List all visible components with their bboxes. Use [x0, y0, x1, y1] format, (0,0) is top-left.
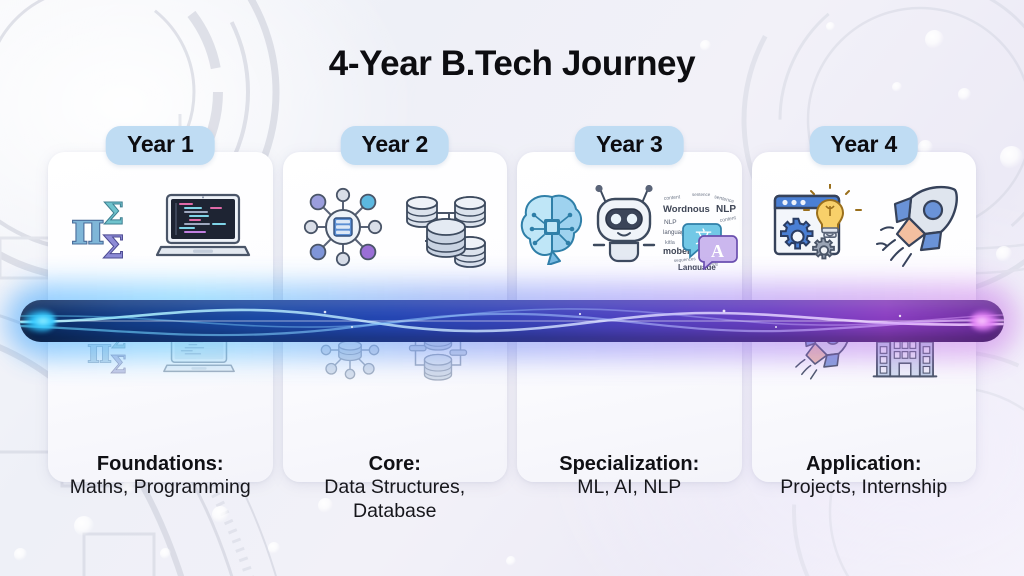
- year-3-caption-head: Specialization:: [517, 452, 742, 476]
- svg-text:sequences: sequences: [674, 256, 697, 263]
- page-title: 4-Year B.Tech Journey: [0, 44, 1024, 84]
- svg-text:NLP: NLP: [664, 219, 677, 226]
- rocket-icon: [875, 184, 959, 270]
- svg-text:content: content: [720, 215, 738, 224]
- year-1-caption-head: Foundations:: [48, 452, 273, 476]
- year-4-caption: Application: Projects, Internship: [752, 452, 977, 500]
- year-badge-4: Year 4: [809, 126, 918, 165]
- year-badge-2: Year 2: [340, 126, 449, 165]
- network-nodes-icon: [299, 183, 387, 271]
- year-1-caption: Foundations: Maths, Programming: [48, 452, 273, 500]
- svg-text:Σ: Σ: [102, 228, 125, 266]
- browser-gears-bulb-icon: [769, 184, 863, 270]
- svg-text:sentence: sentence: [692, 192, 711, 197]
- beam-right-cap-glow: [970, 310, 1000, 332]
- brain-chip-icon: [518, 189, 586, 265]
- year-2-caption-sub: Data Structures, Database: [283, 476, 508, 524]
- beam-left-cap-glow: [22, 309, 56, 333]
- database-cluster-icon: [399, 183, 491, 271]
- year-2-caption-head: Core:: [283, 452, 508, 476]
- laptop-code-icon: [155, 189, 251, 265]
- beam-wave-filaments-icon: [20, 300, 1004, 342]
- year-3-top-icons: content sentence sentence Wordnous NLP N…: [517, 152, 742, 302]
- year-1-top-icons: π Σ Σ: [48, 152, 273, 302]
- svg-text:content: content: [664, 194, 682, 202]
- svg-text:NLP: NLP: [716, 204, 736, 215]
- year-badge-1: Year 1: [106, 126, 215, 165]
- nlp-wordcloud-icon: content sentence sentence Wordnous NLP N…: [662, 184, 740, 270]
- year-2-top-icons: [283, 152, 508, 302]
- svg-text:A: A: [711, 241, 724, 261]
- svg-text:Σ: Σ: [103, 197, 124, 232]
- year-2-caption: Core: Data Structures, Database: [283, 452, 508, 524]
- svg-text:π: π: [71, 201, 105, 255]
- year-4-caption-sub: Projects, Internship: [752, 476, 977, 500]
- year-badge-3: Year 3: [575, 126, 684, 165]
- robot-head-icon: [590, 185, 658, 269]
- year-3-caption-sub: ML, AI, NLP: [517, 476, 742, 500]
- year-1-caption-sub: Maths, Programming: [48, 476, 273, 500]
- pi-sigma-math-icon: π Σ Σ: [69, 188, 143, 266]
- year-4-caption-head: Application:: [752, 452, 977, 476]
- svg-text:Wordnous: Wordnous: [663, 204, 710, 215]
- beam-core: [20, 300, 1004, 342]
- year-4-top-icons: [752, 152, 977, 302]
- energy-timeline-beam: [20, 300, 1004, 342]
- year-3-caption: Specialization: ML, AI, NLP: [517, 452, 742, 500]
